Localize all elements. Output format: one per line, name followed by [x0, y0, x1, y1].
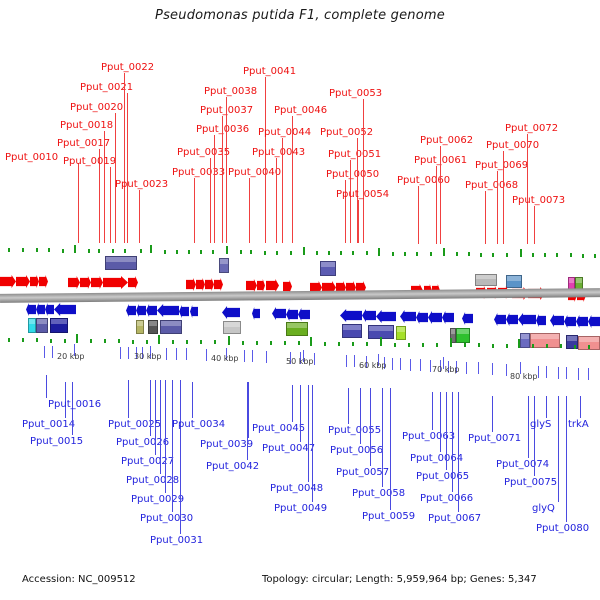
gene-label-forward[interactable]: Pput_0053	[329, 89, 382, 99]
gene-arrow-glyph	[26, 303, 36, 316]
gene-label-reverse[interactable]: Pput_0058	[352, 489, 405, 499]
gene-feature-forward[interactable]	[68, 276, 80, 289]
gene-arrow-glyph	[45, 303, 54, 316]
gene-feature-forward[interactable]	[186, 278, 196, 291]
genome-tick-mark	[416, 252, 418, 256]
genome-tick-mark	[104, 339, 106, 343]
gene-arrow-glyph	[126, 304, 136, 317]
gene-arrow-glyph	[128, 276, 138, 289]
gene-label-reverse[interactable]: Pput_0031	[150, 536, 203, 546]
gene-feature-reverse[interactable]	[550, 314, 564, 327]
feature-box-reverse[interactable]	[28, 318, 36, 333]
genome-tick-mark	[404, 252, 406, 256]
gene-label-reverse[interactable]: Pput_0045	[252, 424, 305, 434]
gene-feature-reverse[interactable]	[442, 311, 454, 324]
gene-label-reverse[interactable]: Pput_0014	[22, 420, 75, 430]
gene-label-forward[interactable]: Pput_0068	[465, 181, 518, 191]
gene-feature-forward[interactable]	[0, 275, 16, 288]
gene-feature-reverse[interactable]	[564, 315, 576, 328]
genome-tick-mark	[22, 248, 24, 252]
gene-label-reverse[interactable]: glyQ	[532, 504, 555, 514]
scale-ruler-bar	[492, 363, 493, 375]
scale-ruler-bar	[546, 366, 547, 378]
genome-tick-mark	[298, 341, 300, 345]
genome-tick-mark	[276, 251, 278, 255]
gene-arrow-glyph	[186, 278, 196, 291]
label-leader-line	[546, 396, 547, 418]
genome-tick-mark	[430, 252, 432, 256]
gene-feature-reverse[interactable]	[576, 315, 588, 328]
genome-tick-mark	[264, 251, 266, 255]
gene-label-forward[interactable]: Pput_0060	[397, 176, 450, 186]
genome-tick-mark	[480, 253, 482, 257]
feature-box-reverse[interactable]	[50, 318, 68, 333]
gene-label-forward[interactable]: Pput_0050	[326, 170, 379, 180]
scale-ruler-bar	[478, 362, 479, 374]
gene-label-forward[interactable]: Pput_0019	[63, 157, 116, 167]
gene-arrow-glyph	[190, 305, 198, 318]
genome-tick-mark	[200, 250, 202, 254]
label-leader-line	[503, 151, 504, 244]
feature-box-reverse[interactable]	[566, 335, 578, 349]
label-leader-line	[276, 158, 277, 243]
gene-label-reverse[interactable]: Pput_0065	[416, 472, 469, 482]
genome-tick-mark	[324, 342, 326, 346]
genome-tick-mark	[90, 339, 92, 343]
label-leader-line	[78, 163, 79, 243]
gene-feature-reverse[interactable]	[416, 311, 428, 324]
gene-feature-reverse[interactable]	[340, 309, 362, 322]
genome-tick-mark	[146, 340, 148, 344]
feature-box-reverse[interactable]	[136, 320, 144, 334]
label-leader-line	[358, 200, 359, 243]
gene-label-reverse[interactable]: Pput_0080	[536, 524, 589, 534]
feature-box-reverse[interactable]	[342, 324, 362, 338]
label-leader-line	[492, 396, 493, 432]
label-leader-line	[247, 382, 248, 460]
gene-feature-reverse[interactable]	[376, 310, 396, 323]
label-leader-line	[124, 73, 125, 243]
gene-feature-reverse[interactable]	[462, 312, 473, 325]
gene-label-forward[interactable]: Pput_0069	[475, 161, 528, 171]
scale-ruler-bar	[430, 360, 431, 372]
scale-ruler-bar	[410, 359, 411, 371]
box-highlight	[321, 262, 335, 267]
genome-tick-mark	[560, 344, 562, 348]
genome-tick-mark	[338, 342, 340, 346]
genome-tick-mark	[240, 250, 242, 254]
box-highlight	[507, 276, 521, 281]
gene-arrow-glyph	[146, 304, 157, 317]
label-leader-line	[312, 385, 313, 502]
scale-ruler-bar	[266, 351, 267, 363]
feature-box-reverse[interactable]	[520, 333, 530, 348]
scale-ruler-bar	[44, 346, 45, 358]
genome-tick-mark	[164, 250, 166, 254]
label-leader-line	[458, 392, 459, 512]
gene-arrow-glyph	[298, 308, 310, 321]
gene-feature-reverse[interactable]	[252, 307, 260, 320]
label-leader-line	[440, 146, 441, 244]
gene-arrow-glyph	[179, 305, 189, 318]
feature-box-reverse[interactable]	[36, 318, 48, 333]
scale-ruler-bar	[506, 364, 507, 376]
gene-feature-reverse[interactable]	[400, 310, 416, 323]
gene-arrow-glyph	[54, 303, 76, 316]
gene-label-forward[interactable]: Pput_0041	[243, 67, 296, 77]
genome-tick-mark	[36, 338, 38, 342]
gene-label-reverse[interactable]: Pput_0015	[30, 437, 83, 447]
genome-tick-mark	[492, 253, 494, 257]
gene-arrow-glyph	[442, 311, 454, 324]
gene-label-forward[interactable]: Pput_0044	[258, 128, 311, 138]
gene-feature-reverse[interactable]	[272, 307, 286, 320]
genome-tick-mark	[316, 251, 318, 255]
gene-label-forward[interactable]: Pput_0072	[505, 124, 558, 134]
label-leader-line	[580, 396, 581, 418]
box-highlight	[369, 326, 393, 331]
genome-tick-mark	[378, 248, 380, 256]
scale-ruler-bar	[314, 353, 315, 365]
gene-arrow-glyph	[136, 304, 146, 317]
genome-tick-mark	[582, 254, 584, 258]
scale-ruler-bar	[466, 362, 467, 374]
scale-label: 30 kbp	[134, 352, 162, 361]
label-leader-line	[534, 206, 535, 244]
gene-arrow-glyph	[30, 275, 39, 288]
scale-label: 40 kbp	[211, 354, 239, 363]
gene-label-forward[interactable]: Pput_0052	[320, 128, 373, 138]
genome-tick-mark	[310, 337, 312, 346]
gene-feature-reverse[interactable]	[136, 304, 146, 317]
gene-label-forward[interactable]: Pput_0023	[115, 180, 168, 190]
scale-ruler-bar	[186, 348, 187, 360]
box-highlight	[51, 319, 67, 324]
box-highlight	[343, 325, 361, 330]
genome-tick-mark	[228, 336, 230, 345]
genome-tick-mark	[422, 343, 424, 347]
genome-tick-mark	[492, 344, 494, 348]
gene-arrow-glyph	[272, 307, 286, 320]
scale-ruler-bar	[206, 349, 207, 361]
label-leader-line	[110, 167, 111, 243]
gene-label-forward[interactable]: Pput_0043	[252, 148, 305, 158]
gene-label-forward[interactable]: Pput_0038	[204, 87, 257, 97]
gene-label-reverse[interactable]: Pput_0048	[270, 484, 323, 494]
gene-feature-forward[interactable]	[16, 275, 30, 288]
genome-tick-mark	[574, 345, 576, 349]
gene-label-forward[interactable]: Pput_0046	[274, 106, 327, 116]
label-leader-line	[150, 380, 151, 436]
gene-arrow-glyph	[222, 306, 240, 319]
gene-label-forward[interactable]: Pput_0051	[328, 150, 381, 160]
gene-feature-forward[interactable]	[30, 275, 39, 288]
label-leader-line	[222, 116, 223, 243]
gene-arrow-glyph	[400, 310, 416, 323]
genome-tick-mark	[456, 252, 458, 256]
scale-ruler-bar	[252, 350, 253, 362]
genome-tick-mark	[48, 248, 50, 252]
gene-label-forward[interactable]: Pput_0017	[57, 139, 110, 149]
gene-label-reverse[interactable]: Pput_0071	[468, 434, 521, 444]
label-leader-line	[210, 158, 211, 243]
scale-label: 60 kbp	[359, 361, 387, 370]
gene-feature-forward[interactable]	[257, 279, 265, 292]
gene-feature-forward[interactable]	[80, 276, 91, 289]
gene-label-reverse[interactable]: Pput_0075	[504, 478, 557, 488]
gene-label-forward[interactable]: Pput_0070	[486, 141, 539, 151]
gene-label-forward[interactable]: Pput_0021	[80, 83, 133, 93]
gene-arrow-glyph	[103, 276, 128, 289]
genome-tick-mark	[408, 343, 410, 347]
gene-label-forward[interactable]: Pput_0022	[101, 63, 154, 73]
label-leader-line	[528, 396, 529, 458]
label-leader-line	[214, 135, 215, 243]
gene-feature-reverse[interactable]	[157, 304, 179, 317]
gene-feature-reverse[interactable]	[146, 304, 157, 317]
gene-label-reverse[interactable]: Pput_0059	[362, 512, 415, 522]
scale-ruler-bar	[578, 368, 579, 380]
label-leader-line	[360, 388, 361, 444]
gene-feature-reverse[interactable]	[190, 305, 198, 318]
genome-tick-mark	[532, 253, 534, 257]
genome-tick-mark	[270, 341, 272, 345]
gene-arrow-glyph	[246, 279, 257, 292]
label-leader-line	[308, 385, 309, 482]
genome-tick-mark	[124, 249, 126, 253]
gene-label-reverse[interactable]: Pput_0030	[140, 514, 193, 524]
genome-tick-mark	[468, 252, 470, 256]
feature-box-reverse[interactable]	[148, 320, 158, 334]
gene-label-reverse[interactable]: Pput_0025	[108, 420, 161, 430]
genome-tick-mark	[506, 253, 508, 257]
genome-tick-mark	[214, 340, 216, 344]
genome-tick-mark	[443, 248, 445, 256]
gene-label-reverse[interactable]: Pput_0063	[402, 432, 455, 442]
feature-box-forward[interactable]	[320, 261, 336, 276]
label-leader-line	[139, 190, 140, 243]
genome-tick-mark	[366, 342, 368, 346]
gene-label-forward[interactable]: Pput_0018	[60, 121, 113, 131]
genome-tick-mark	[74, 245, 76, 253]
gene-feature-forward[interactable]	[103, 276, 128, 289]
scale-ruler-bar	[52, 346, 53, 358]
gene-label-reverse[interactable]: Pput_0074	[496, 460, 549, 470]
genome-tick-mark	[188, 250, 190, 254]
gene-feature-reverse[interactable]	[494, 313, 506, 326]
gene-feature-reverse[interactable]	[45, 303, 54, 316]
feature-box-reverse[interactable]	[396, 326, 406, 340]
scale-ruler-bar	[244, 350, 245, 362]
gene-feature-forward[interactable]	[205, 278, 214, 291]
box-highlight	[476, 275, 496, 279]
gene-feature-reverse[interactable]	[362, 309, 376, 322]
box-highlight	[106, 257, 136, 262]
scale-ruler-bar	[566, 367, 567, 379]
label-leader-line	[485, 191, 486, 244]
genome-tick-mark	[290, 251, 292, 255]
gene-label-forward[interactable]: Pput_0073	[512, 196, 565, 206]
genome-tick-mark	[518, 339, 520, 348]
gene-arrow-glyph	[550, 314, 564, 327]
label-leader-line	[292, 116, 293, 243]
genome-tick-mark	[366, 251, 368, 255]
gene-feature-reverse[interactable]	[54, 303, 76, 316]
gene-feature-reverse[interactable]	[179, 305, 189, 318]
genome-axis-line	[0, 288, 600, 303]
feature-box-reverse[interactable]	[223, 321, 241, 334]
gene-feature-forward[interactable]	[214, 278, 223, 291]
gene-label-forward[interactable]: Pput_0040	[228, 168, 281, 178]
genome-tick-mark	[506, 344, 508, 348]
feature-box-reverse[interactable]	[530, 333, 560, 348]
box-highlight	[567, 336, 577, 341]
gene-arrow-glyph	[214, 278, 223, 291]
label-leader-line	[160, 380, 161, 474]
gene-label-reverse[interactable]: Pput_0039	[200, 440, 253, 450]
gene-arrow-glyph	[494, 313, 506, 326]
scale-label: 80 kbp	[510, 372, 538, 381]
scale-ruler-bar	[588, 368, 589, 380]
genome-tick-mark	[132, 340, 134, 344]
label-leader-line	[558, 396, 559, 502]
gene-feature-forward[interactable]	[128, 276, 138, 289]
gene-feature-reverse[interactable]	[518, 313, 536, 326]
gene-feature-reverse[interactable]	[26, 303, 36, 316]
feature-box-forward[interactable]	[475, 274, 497, 286]
genome-tick-mark	[464, 343, 466, 347]
gene-label-reverse[interactable]: Pput_0026	[116, 438, 169, 448]
gene-feature-reverse[interactable]	[588, 315, 600, 328]
gene-arrow-glyph	[36, 303, 45, 316]
label-leader-line	[452, 392, 453, 492]
genome-tick-mark	[284, 341, 286, 345]
gene-label-reverse[interactable]: Pput_0066	[420, 494, 473, 504]
gene-label-forward[interactable]: Pput_0054	[336, 190, 389, 200]
genome-tick-mark	[478, 343, 480, 347]
gene-label-reverse[interactable]: Pput_0056	[330, 446, 383, 456]
genome-tick-mark	[303, 247, 305, 255]
genome-tick-mark	[436, 343, 438, 347]
gene-feature-forward[interactable]	[266, 279, 279, 292]
gene-arrow-glyph	[576, 315, 588, 328]
gene-feature-reverse[interactable]	[536, 314, 546, 327]
genome-tick-mark	[256, 341, 258, 345]
genome-tick-mark	[394, 343, 396, 347]
scale-ruler-bar	[346, 355, 347, 367]
box-highlight	[149, 321, 157, 326]
gene-label-reverse[interactable]: Pput_0055	[328, 426, 381, 436]
gene-label-reverse[interactable]: Pput_0067	[428, 514, 481, 524]
gene-arrow-glyph	[506, 313, 518, 326]
gene-label-reverse[interactable]: Pput_0027	[121, 457, 174, 467]
gene-feature-forward[interactable]	[39, 275, 48, 288]
gene-feature-forward[interactable]	[246, 279, 257, 292]
feature-box-reverse[interactable]	[286, 322, 308, 336]
feature-box-reverse[interactable]	[160, 320, 182, 334]
gene-feature-forward[interactable]	[91, 276, 103, 289]
gene-arrow-glyph	[80, 276, 91, 289]
genome-tick-mark	[36, 248, 38, 252]
page-title: Pseudomonas putida F1, complete genome	[0, 8, 600, 23]
box-highlight	[287, 323, 307, 328]
gene-label-reverse[interactable]: Pput_0029	[131, 495, 184, 505]
feature-box-forward[interactable]	[105, 256, 137, 270]
scale-label: 20 kbp	[57, 352, 85, 361]
gene-feature-reverse[interactable]	[222, 306, 240, 319]
gene-label-reverse[interactable]: Pput_0034	[172, 420, 225, 430]
genome-tick-mark	[328, 251, 330, 255]
scale-label: 50 kbp	[286, 357, 314, 366]
gene-arrow-glyph	[68, 276, 80, 289]
gene-label-forward[interactable]: Pput_0033	[172, 168, 225, 178]
gene-feature-reverse[interactable]	[298, 308, 310, 321]
label-leader-line	[363, 99, 364, 243]
label-leader-line	[527, 134, 528, 244]
label-leader-line	[418, 186, 419, 244]
genome-tick-mark	[556, 253, 558, 257]
label-leader-line	[46, 375, 47, 398]
label-leader-line	[440, 392, 441, 452]
label-leader-line	[497, 171, 498, 244]
gene-arrow-glyph	[205, 278, 214, 291]
label-leader-line	[348, 388, 349, 424]
genome-tick-mark	[570, 253, 572, 257]
gene-label-forward[interactable]: Pput_0020	[70, 103, 123, 113]
genome-tick-mark	[250, 250, 252, 254]
genome-tick-mark	[392, 252, 394, 256]
box-highlight	[397, 327, 405, 332]
gene-label-reverse[interactable]: glyS	[530, 420, 551, 430]
box-highlight	[137, 321, 143, 326]
gene-label-reverse[interactable]: Pput_0064	[410, 454, 463, 464]
label-leader-line	[382, 388, 383, 487]
gene-arrow-glyph	[257, 279, 265, 292]
gene-feature-reverse[interactable]	[126, 304, 136, 317]
label-leader-line	[127, 93, 128, 243]
genome-tick-mark	[340, 251, 342, 255]
feature-box-forward[interactable]	[219, 258, 229, 273]
label-leader-line	[249, 178, 250, 243]
label-leader-line	[282, 138, 283, 243]
genome-tick-mark	[588, 345, 590, 349]
gene-feature-forward[interactable]	[196, 278, 205, 291]
gene-feature-reverse[interactable]	[428, 311, 442, 324]
gene-arrow-glyph	[286, 308, 298, 321]
gene-arrow-glyph	[16, 275, 30, 288]
gene-label-reverse[interactable]: trkA	[568, 420, 589, 430]
scale-ruler-bar	[176, 348, 177, 360]
label-leader-line	[165, 380, 166, 493]
gene-label-reverse[interactable]: Pput_0042	[206, 462, 259, 472]
gene-label-reverse[interactable]: Pput_0049	[274, 504, 327, 514]
label-leader-line	[115, 113, 116, 243]
scale-ruler-bar	[400, 358, 401, 370]
feature-box-reverse[interactable]	[456, 328, 470, 343]
genome-tick-mark	[150, 245, 152, 253]
gene-label-reverse[interactable]: Pput_0016	[48, 400, 101, 410]
gene-feature-reverse[interactable]	[286, 308, 298, 321]
gene-label-forward[interactable]: Pput_0062	[420, 136, 473, 146]
gene-feature-reverse[interactable]	[36, 303, 45, 316]
gene-label-forward[interactable]: Pput_0010	[5, 153, 58, 163]
label-leader-line	[265, 77, 266, 243]
box-highlight	[29, 319, 35, 324]
genome-tick-mark	[172, 340, 174, 344]
label-leader-line	[104, 131, 105, 243]
gene-arrow-glyph	[416, 311, 428, 324]
gene-feature-reverse[interactable]	[506, 313, 518, 326]
